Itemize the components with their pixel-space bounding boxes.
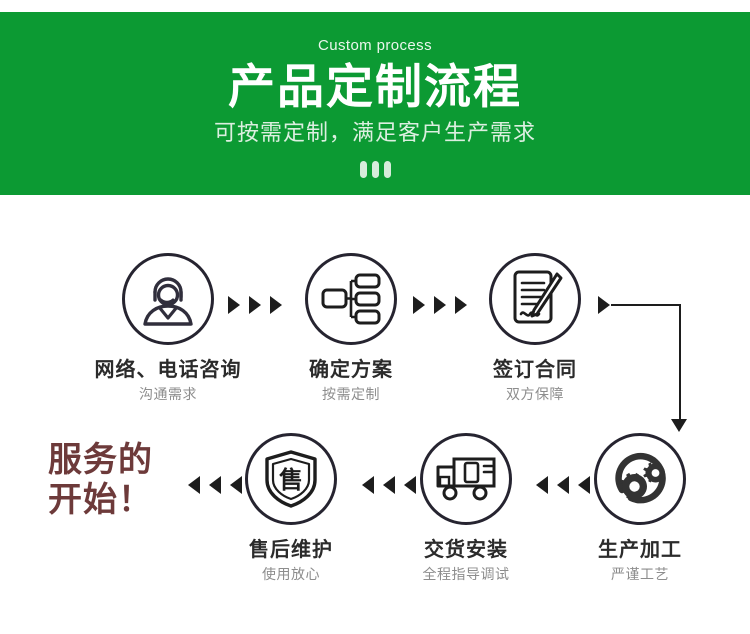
delivery-truck-icon [434, 455, 498, 503]
banner-dot [360, 161, 367, 178]
contract-pen-icon [507, 270, 563, 328]
step-consultation-subtitle: 沟通需求 [83, 388, 253, 402]
step-plan-subtitle: 按需定制 [266, 388, 436, 402]
connector-vertical-line [679, 304, 681, 421]
headset-person-icon [137, 270, 199, 328]
step-contract[interactable]: 签订合同 双方保障 [450, 253, 620, 402]
shield-service-icon: 售 [265, 450, 317, 508]
step-delivery-title: 交货安装 [381, 539, 551, 559]
flowchart-icon [321, 273, 381, 325]
arrow-down-icon [671, 419, 687, 432]
process-flow-area: 网络、电话咨询 沟通需求 确定方案 按需定制 [0, 195, 750, 634]
step-plan-circle [305, 253, 397, 345]
banner-dots-decoration [360, 161, 391, 178]
step-production-subtitle: 严谨工艺 [555, 568, 725, 582]
banner-subtitle: 可按需定制，满足客户生产需求 [214, 123, 536, 145]
step-consultation-circle [122, 253, 214, 345]
step-aftersales-subtitle: 使用放心 [206, 568, 376, 582]
triangle-right-icon [413, 296, 425, 314]
gears-icon [609, 448, 671, 510]
triangle-left-icon [188, 476, 200, 494]
step-production-title: 生产加工 [555, 539, 725, 559]
header-banner: Custom process 产品定制流程 可按需定制，满足客户生产需求 [0, 12, 750, 195]
step-consultation-title: 网络、电话咨询 [83, 359, 253, 379]
connector-horizontal-line [611, 304, 681, 306]
step-contract-circle [489, 253, 581, 345]
step-delivery-subtitle: 全程指导调试 [381, 568, 551, 582]
triangle-right-icon [434, 296, 446, 314]
shield-character: 售 [279, 466, 303, 494]
step-production[interactable]: 生产加工 严谨工艺 [555, 433, 725, 582]
triangle-left-icon [362, 476, 374, 494]
service-start-label: 服务的 开始！ [48, 440, 153, 520]
page-title: 产品定制流程 [228, 63, 522, 112]
step-plan[interactable]: 确定方案 按需定制 [266, 253, 436, 402]
product-custom-process-infographic: Custom process 产品定制流程 可按需定制，满足客户生产需求 [0, 0, 750, 634]
service-start-line1: 服务的 [48, 440, 153, 480]
step-aftersales-title: 售后维护 [206, 539, 376, 559]
banner-eyebrow: Custom process [318, 38, 432, 53]
service-start-line2: 开始！ [48, 480, 153, 520]
step-contract-subtitle: 双方保障 [450, 388, 620, 402]
triangle-right-icon [598, 296, 610, 314]
step-contract-title: 签订合同 [450, 359, 620, 379]
step-aftersales-circle: 售 [245, 433, 337, 525]
triangle-right-icon [228, 296, 240, 314]
step-consultation[interactable]: 网络、电话咨询 沟通需求 [83, 253, 253, 402]
step-delivery-circle [420, 433, 512, 525]
step-delivery[interactable]: 交货安装 全程指导调试 [381, 433, 551, 582]
step-plan-title: 确定方案 [266, 359, 436, 379]
triangle-right-icon [249, 296, 261, 314]
step-aftersales[interactable]: 售 售后维护 使用放心 [206, 433, 376, 582]
triangle-left-icon [536, 476, 548, 494]
banner-dot [384, 161, 391, 178]
step-production-circle [594, 433, 686, 525]
banner-dot [372, 161, 379, 178]
